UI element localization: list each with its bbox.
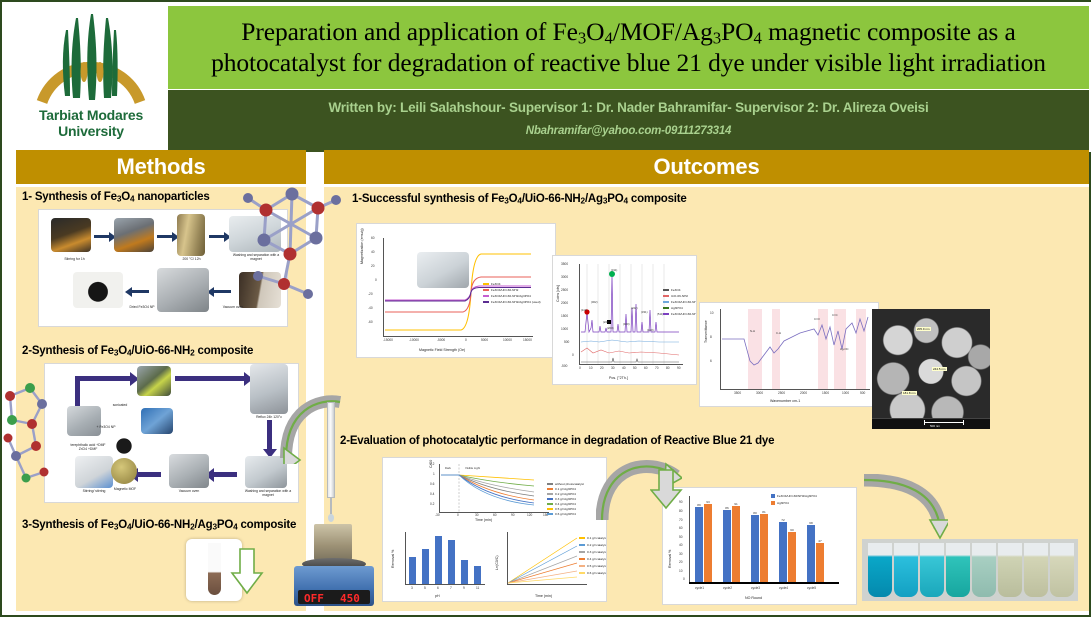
ph-tick-label: 5 [424,586,426,590]
flow-arrow-1 [94,235,110,238]
xrd-legend-0: Fe3O4 [663,288,680,292]
photo-magnetic-stirrer [75,456,113,488]
methods-step1-heading: 1- Synthesis of Fe3O4 nanoparticles [22,191,210,204]
photo-vacuum-oven-2 [169,454,209,488]
chart-vsm-magnetization: Magnetization (emu/g) Magnetic Field Str… [356,223,556,358]
ph-x-axis [405,584,485,585]
author-banner: Written by: Leili Salahshour- Supervisor… [168,90,1089,152]
ftir-xlabel: Wavenumber cm-1 [770,399,800,403]
rate-legend-4: 0.5 g/l catalyst [579,564,607,568]
reusability-category-label: cycle2 [723,586,732,590]
burette-graphic [324,402,338,530]
sem-micrograph: 205.9 nm 244.5 nm 181.8 nm 500 nm [872,309,990,429]
methods-step3-heading: 3-Synthesis of Fe3O4/UiO-66-NH2/Ag3PO4 c… [22,519,296,532]
sem-infobar: 500 nm [872,418,990,429]
ph-bar [461,560,468,584]
xrd-legend-2: Fe3O4/UiO-66-NH2 [663,300,697,304]
kin-legend-6: 0.6 g/l Ag3PO4 [547,512,576,516]
mof-arrow-2 [175,376,245,381]
xrd-legend-3: Ag3PO4 [663,306,683,310]
photo-stirring [51,218,91,252]
rate-ylabel: Ln(C0/C) [495,534,499,570]
hotplate-display-right: 450 [340,592,360,605]
university-logo-icon [32,10,150,108]
kin-legend-3: 0.3 g/l Ag3PO4 [547,497,576,501]
mof-structure-graphic-left [2,380,50,498]
mof-structure-graphic-top [238,180,348,305]
reusability-category-label: cycle4 [779,586,788,590]
caption-stirring: Stirring for 1h [47,258,102,262]
rate-legend-5: 0.6 g/l catalyst [579,571,607,575]
outcomes-result2-heading: 2-Evaluation of photocatalytic performan… [340,435,774,447]
sem-label-0: 205.9 nm [916,327,931,331]
rate-curves [507,532,587,584]
reusability-category-label: cycle3 [751,586,760,590]
reuse-x-axis [689,582,839,584]
poster-title: Preparation and application of Fe3O4/MOF… [168,17,1089,79]
author-list: Written by: Leili Salahshour- Supervisor… [168,90,1089,115]
green-down-arrow-reusability [650,468,684,510]
reusability-bar [704,504,712,582]
xrd-x-axis [579,364,683,365]
university-name-line1: Tarbiat Modares [39,107,143,123]
reusability-value-label: 80 [751,511,759,515]
photo-ultrasonic-bath [141,408,173,434]
vsm-xlabel: Magnetic Field Strength (Oe) [419,348,465,352]
reusability-bar [807,525,815,582]
poster-canvas: Tarbiat Modares University Preparation a… [0,0,1091,617]
ph-tick-label: 11 [476,586,479,590]
ftir-annot-3: C=C [832,313,838,317]
photo-beaker-stirring [67,406,101,436]
reusability-bar [760,514,768,582]
reusability-value-label: 81 [760,510,768,514]
contact-info: Nbahramifar@yahoo.com-09111273314 [168,115,1089,137]
reuse-legend-1: Ag3PO4 [771,501,789,505]
reuse-y-axis [689,496,690,582]
reuse-xlabel: NO Round [745,596,762,600]
rate-x-axis [507,584,587,585]
ph-bar [409,557,416,585]
mof-arrow-4 [213,472,237,477]
methods-step2-heading: 2-Synthesis of Fe3O4/UiO-66-NH2 composit… [22,345,253,358]
caption-washing: Washing and separation with a magnet [243,490,293,498]
chart-ftir-spectrum: Transmittance Wavenumber cm-1 10 8 6 350… [699,302,879,407]
reusability-bar [779,522,787,582]
ftir-ylabel: Transmittance [704,302,708,343]
rate-legend-1: 0.2 g/l catalyst [579,543,607,547]
outcomes-column: 1-Successful synthesis of Fe3O4/UiO-66-N… [324,187,1089,611]
caption-vacuum-oven: Vacuum oven [211,306,255,310]
ph-bar [422,549,429,584]
university-name-line2: University [58,123,124,139]
ftir-annot-0: N-H [750,329,755,333]
mof-arrow-3 [267,420,272,450]
reusability-bar [751,515,759,582]
caption-magnetic-mof: Magnetic MOF [107,488,143,492]
reuse-legend-0: Fe3O4/UiO-66/NH2/Ag3PO4 [771,494,817,498]
ph-ylabel: Removal % [391,532,395,568]
ph-tick-label: 6 [437,586,439,590]
rate-legend-2: 0.3 g/l catalyst [579,550,607,554]
rate-legend-0: 0.1 g/l catalyst [579,536,607,540]
photo-stirring-2 [114,218,154,252]
caption-add-fe3o4: + Fe3O4 NP [93,426,119,430]
reusability-value-label: 93 [704,500,712,504]
sem-label-2: 181.8 nm [902,391,917,395]
reusability-value-label: 86 [723,506,731,510]
xrd-xlabel: Pos. [°2Th.] [609,376,628,380]
kin-legend-1: 0.1 g/l Ag3PO4 [547,487,576,491]
flow-arrow-2 [157,235,173,238]
reusability-value-label: 68 [807,521,815,525]
section-header-methods: Methods [16,150,306,184]
ph-tick-label: 9 [463,586,465,590]
ph-bar [448,540,455,585]
kin-legend-2: 0.2 g/l Ag3PO4 [547,492,576,496]
reusability-value-label: 60 [788,528,796,532]
reusability-value-label: 47 [816,539,824,543]
photo-magnetic-mof [111,458,137,484]
xrd-legend-4: Fe3O4/UiO-66-NH2/Ag3PO4 [663,312,697,316]
vsm-legend-3: Fe3O4/UiO-66-NH2/Ag3PO4 (used) [483,300,541,304]
kin-legend-4: 0.4 g/l Ag3PO4 [547,502,576,506]
poster-header: Tarbiat Modares University Preparation a… [2,2,1091,152]
chart-xrd-pattern: Coins [cts] Pos. [°2Th.] 3500 3000 2500 … [552,255,697,385]
title-banner: Preparation and application of Fe3O4/MOF… [168,6,1089,89]
reusability-bar [695,507,703,582]
ph-tick-label: 3 [411,586,413,590]
reusability-category-label: cycle1 [695,586,704,590]
caption-vacuum-oven-2: Vacuum oven [167,490,211,494]
photo-hotplate-stirrer: OFF 450 [288,524,380,616]
rate-legend-3: 0.4 g/l catalyst [579,557,607,561]
ph-y-axis [405,532,406,584]
green-curved-arrow-tubes [860,474,948,540]
vsm-legend-1: Fe3O4/UiO-66-NH2 [483,288,518,292]
ftir-annot-2: C=O [814,317,820,321]
hotplate-display-left: OFF [304,592,324,605]
vsm-legend-2: Fe3O4/UiO-66-NH2/Ag3PO4 [483,294,531,298]
photo-vacuum-oven [157,268,209,312]
caption-precursors: terephthalic acid +DMFZrCl4 +DMF [61,444,115,452]
reusability-bar [723,510,731,582]
reusability-value-label: 91 [732,502,740,506]
section-header-outcomes: Outcomes [324,150,1089,184]
kin-legend-5: 0.5 g/l Ag3PO4 [547,507,576,511]
flow-arrow-3 [209,235,225,238]
photo-black-powder [113,438,135,454]
flow-arrow-5 [131,290,149,293]
figure-synthesis-mof: Reflux 24h 120°c sonicated + Fe3O4 NP te… [44,363,299,503]
figure-photocatalysis-kinetics: C/C0 Time (min) 1.2 1 0.6 0.4 0.2 -30 0 … [382,457,607,602]
kin-legend-0: without photocatalyst [547,482,584,486]
mof-arrow-5 [137,472,161,477]
photo-reaction-vial [137,366,171,396]
reusability-bar [816,543,824,582]
mof-arrow-1 [75,376,131,381]
caption-dried: Dried Fe3O4 NP [125,306,159,310]
reusability-category-label: cycle5 [807,586,816,590]
vsm-x-axis [383,336,533,337]
flow-arrow-4 [213,290,231,293]
caption-autoclave: 200 °C/ 12h [169,258,214,262]
sem-label-1: 244.5 nm [932,367,947,371]
photo-dried-powder [73,272,123,308]
photo-test-tube-series [862,539,1078,601]
reusability-bar [732,506,740,582]
ph-xlabel: pH [435,594,440,598]
rate-xlabel: Time (min) [535,594,552,598]
ftir-x-axis [720,389,870,390]
reusability-value-label: 89 [695,503,703,507]
university-logo: Tarbiat Modares University [16,6,166,152]
kin-curves [439,464,549,512]
kin-xlabel: Time (min) [475,518,492,522]
ph-tick-label: 7 [450,586,452,590]
vsm-legend-0: Fe3O4 [483,282,500,286]
reusability-bar [788,532,796,582]
ph-bar [435,536,442,584]
outcomes-result1-heading: 1-Successful synthesis of Fe3O4/UiO-66-N… [352,193,687,206]
photo-magnetic-response-inset [417,252,469,288]
reusability-value-label: 72 [779,518,787,522]
ph-bar [474,566,481,584]
xrd-ylabel: Coins [cts] [556,255,560,302]
ftir-annot-1: C-H [776,331,781,335]
caption-sonicated: sonicated [107,404,133,408]
sem-scalebar-label: 500 nm [930,424,940,428]
xrd-legend-1: UiO-66-NH2 [663,294,688,298]
chart-reusability: Removal % NO Round 90 80 70 60 50 40 30 … [662,487,857,605]
green-down-arrow-step3 [230,547,264,595]
ftir-annot-4: Ag-OC [840,347,849,351]
vsm-ylabel: Magnetization (emu/g) [360,223,364,264]
university-name: Tarbiat Modares University [39,108,143,139]
photo-autoclave [177,214,205,256]
